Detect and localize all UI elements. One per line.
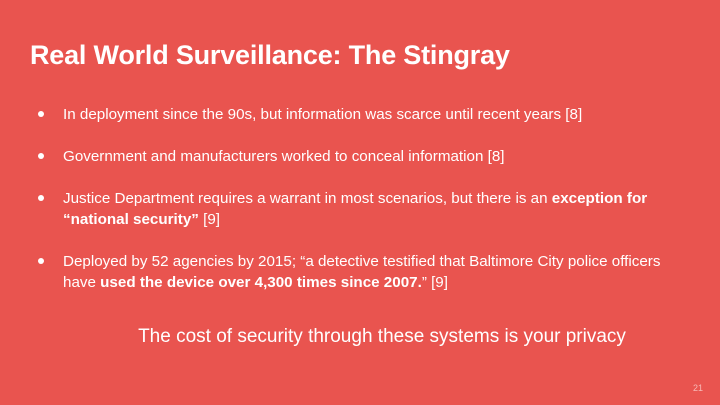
bullet-point-icon xyxy=(38,195,44,201)
list-item: Justice Department requires a warrant in… xyxy=(38,188,668,230)
list-item: Deployed by 52 agencies by 2015; “a dete… xyxy=(38,251,668,293)
bullet-point-icon xyxy=(38,153,44,159)
list-item: In deployment since the 90s, but informa… xyxy=(38,104,668,125)
bullet-list: In deployment since the 90s, but informa… xyxy=(38,104,668,314)
page-number: 21 xyxy=(693,383,703,393)
closing-statement: The cost of security through these syste… xyxy=(0,324,720,350)
list-item-text: Deployed by 52 agencies by 2015; “a dete… xyxy=(63,251,668,293)
page-title: Real World Surveillance: The Stingray xyxy=(30,40,510,71)
list-item-text: In deployment since the 90s, but informa… xyxy=(63,104,668,125)
list-item-text: Justice Department requires a warrant in… xyxy=(63,188,668,230)
list-item: Government and manufacturers worked to c… xyxy=(38,146,668,167)
bullet-point-icon xyxy=(38,111,44,117)
bullet-point-icon xyxy=(38,258,44,264)
list-item-text: Government and manufacturers worked to c… xyxy=(63,146,668,167)
slide-canvas: Real World Surveillance: The Stingray In… xyxy=(0,0,720,405)
